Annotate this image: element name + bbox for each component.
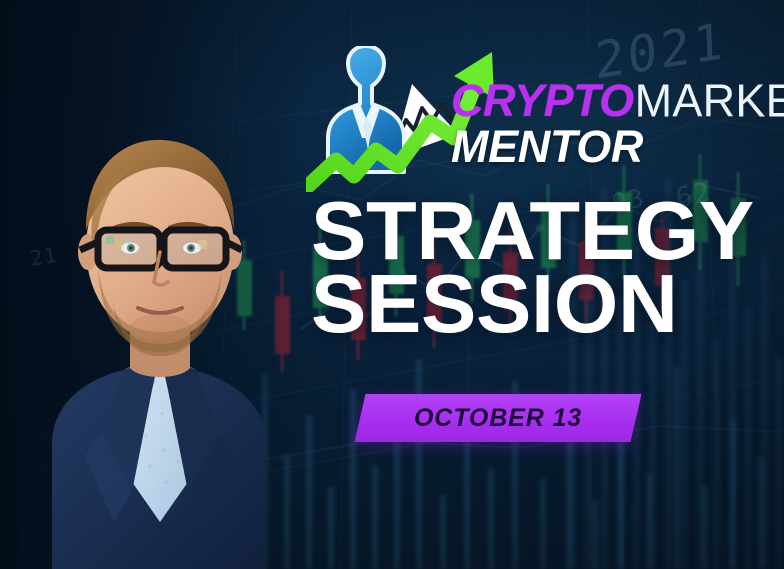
page-title-line-2: SESSION [311, 269, 761, 339]
page-title-line-1: STRATEGY [311, 196, 761, 266]
promo-graphic-canvas: 2021 93 62 21 [0, 0, 784, 569]
wordmark-market: MARKET [635, 82, 784, 121]
presenter-photo [0, 52, 334, 569]
brand-wordmark: CRYPTO MARKET MENTOR [451, 82, 781, 192]
date-badge-label: OCTOBER 13 [360, 394, 636, 442]
page-title: STRATEGY SESSION [311, 196, 761, 338]
date-badge: OCTOBER 13 [354, 394, 641, 442]
wordmark-line-1: CRYPTO MARKET [451, 82, 781, 120]
wordmark-crypto: CRYPTO [451, 82, 634, 120]
wordmark-mentor: MENTOR [451, 121, 781, 173]
brand-logo: CRYPTO MARKET MENTOR [306, 46, 776, 196]
